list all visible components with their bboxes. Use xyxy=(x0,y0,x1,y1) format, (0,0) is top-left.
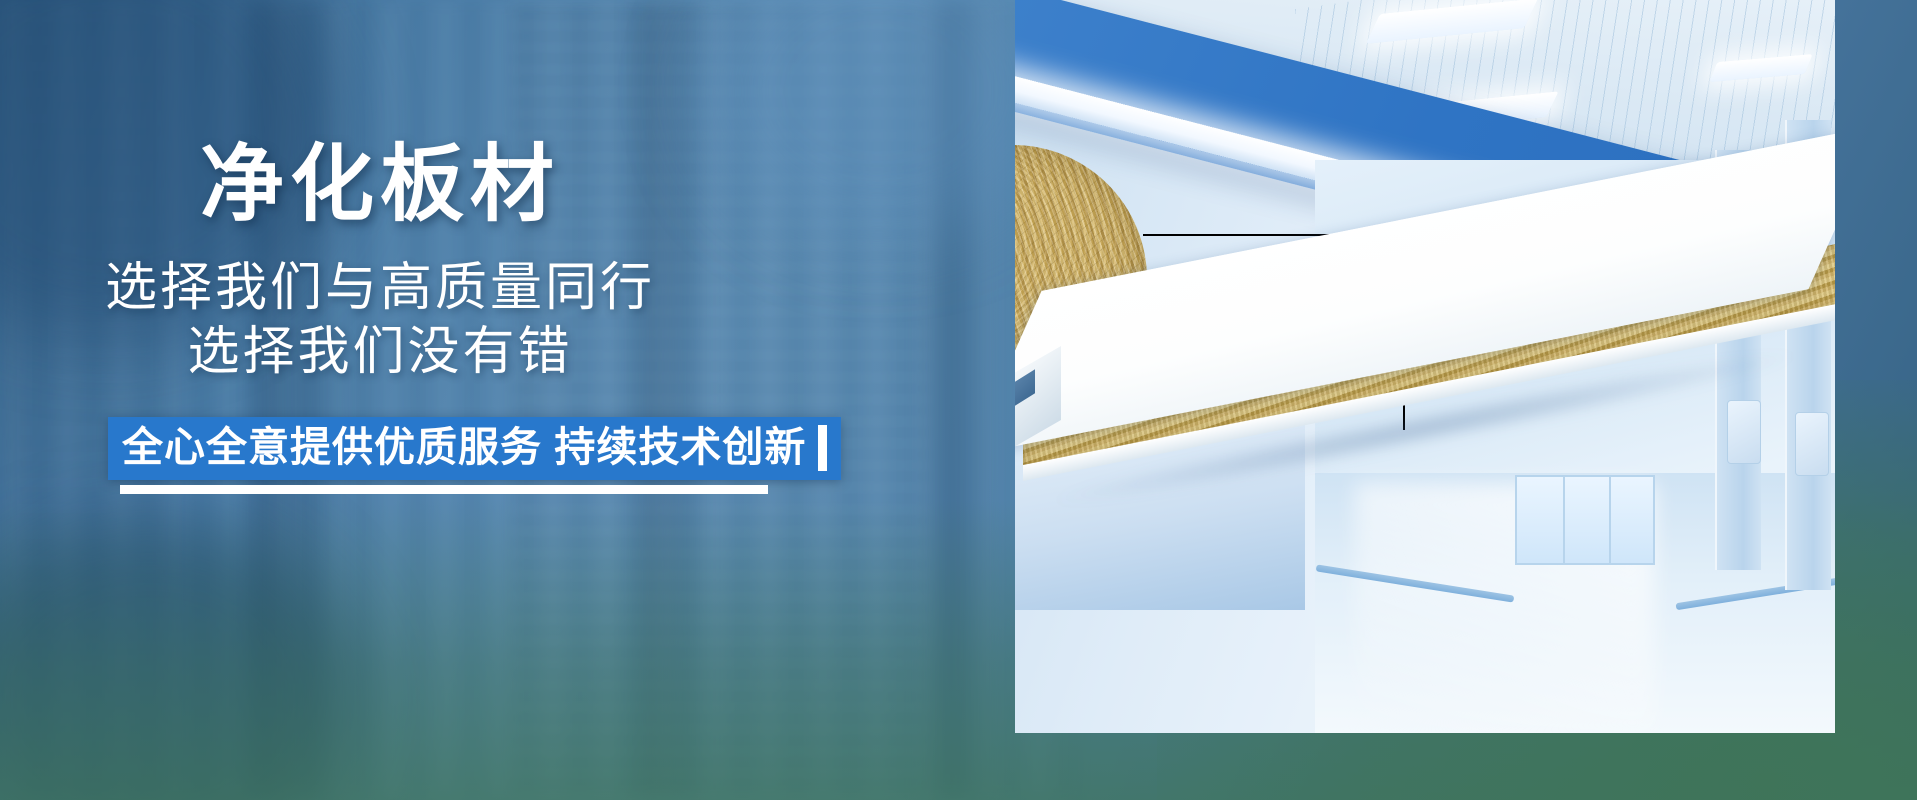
tagline-bar: 全心全意提供优质服务 持续技术创新 xyxy=(108,417,841,480)
subtitle-line-2: 选择我们没有错 xyxy=(0,322,760,383)
promo-banner: 净化板材 选择我们与高质量同行 选择我们没有错 全心全意提供优质服务 持续技术创… xyxy=(0,0,1917,800)
tagline-block: 全心全意提供优质服务 持续技术创新 xyxy=(108,417,841,494)
photo-bottom-fade xyxy=(1015,693,1835,733)
tagline-text: 全心全意提供优质服务 持续技术创新 xyxy=(122,424,806,471)
headline-block: 净化板材 选择我们与高质量同行 选择我们没有错 全心全意提供优质服务 持续技术创… xyxy=(0,0,1000,800)
subtitle-line-1: 选择我们与高质量同行 xyxy=(0,258,760,319)
sandwich-panel xyxy=(1015,215,1835,635)
tagline-underline xyxy=(120,485,768,494)
tagline-tick-marker xyxy=(818,425,827,471)
page-title: 净化板材 xyxy=(0,140,760,228)
product-scene-photo: 护士站 Nursing Station 考勤表 xyxy=(1015,0,1835,733)
